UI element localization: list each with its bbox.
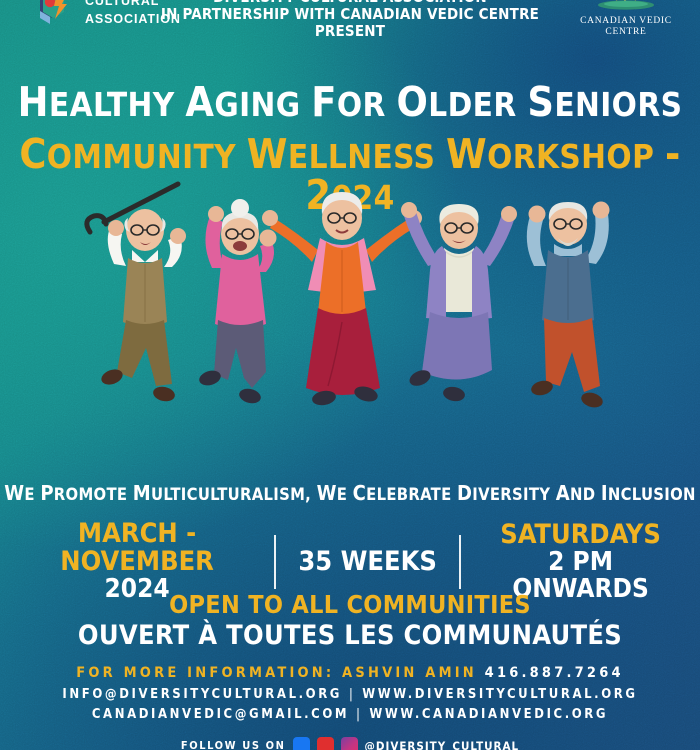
figure-woman-orange bbox=[262, 192, 422, 407]
follow-us-row: FOLLOW US ON @DIVERSITY_CULTURAL bbox=[0, 737, 700, 750]
presenter-block: DIVERSITY CULTURAL ASSOCIATION IN PARTNE… bbox=[140, 0, 560, 39]
contact-separator-2: | bbox=[356, 707, 363, 722]
figure-man-blue bbox=[527, 202, 610, 410]
logo-right-line2: CENTRE bbox=[605, 27, 646, 37]
title-line-1: HEALTHY AGING FOR OLDER SENIORS bbox=[0, 82, 700, 123]
contact-info-label: FOR MORE INFORMATION: ASHVIN AMIN bbox=[76, 665, 477, 681]
facts-divider-2 bbox=[459, 535, 461, 589]
presenter-line-3: PRESENT bbox=[140, 23, 560, 40]
facts-divider-1 bbox=[274, 535, 276, 589]
instagram-icon[interactable] bbox=[341, 737, 358, 750]
youtube-icon[interactable] bbox=[317, 737, 334, 750]
contact-website-1[interactable]: WWW.DIVERSITYCULTURAL.ORG bbox=[362, 687, 637, 702]
logo-right-line1: CANADIAN VEDIC bbox=[580, 16, 672, 26]
poster: CULTURAL ASSOCIATION DIVERSITY CULTURAL … bbox=[0, 0, 700, 750]
contact-email-1[interactable]: INFO@DIVERSITYCULTURAL.ORG bbox=[62, 687, 342, 702]
fact-schedule-top: SATURDAYS bbox=[483, 521, 678, 549]
contact-phone[interactable]: 416.887.7264 bbox=[485, 665, 624, 681]
figure-woman-purple bbox=[401, 202, 517, 403]
contact-line-diversity: INFO@DIVERSITYCULTURAL.ORG | WWW.DIVERSI… bbox=[0, 685, 700, 705]
presenter-line-2: IN PARTNERSHIP WITH CANADIAN VEDIC CENTR… bbox=[140, 6, 560, 23]
figure-woman-pink bbox=[197, 199, 276, 405]
contact-email-2[interactable]: CANADIANVEDIC@GMAIL.COM bbox=[92, 707, 349, 722]
fact-dates-top: MARCH - NOVEMBER bbox=[22, 520, 252, 576]
fact-duration: 35 WEEKS bbox=[276, 548, 459, 576]
contact-separator-1: | bbox=[349, 687, 356, 702]
logo-canadian-vedic-centre: CANADIAN VEDIC CENTRE bbox=[570, 0, 682, 38]
open-to-all-english: OPEN TO ALL COMMUNITIES bbox=[0, 592, 700, 618]
follow-us-label: FOLLOW US ON bbox=[181, 739, 286, 750]
open-to-all-french: OUVERT À TOUTES LES COMMUNAUTÉS bbox=[0, 621, 700, 651]
facebook-icon[interactable] bbox=[293, 737, 310, 750]
figure-man-with-cane bbox=[87, 184, 186, 403]
header: CULTURAL ASSOCIATION DIVERSITY CULTURAL … bbox=[0, 0, 700, 56]
diversity-hexagon-logo-icon bbox=[26, 0, 78, 36]
open-to-all-block: OPEN TO ALL COMMUNITIES OUVERT À TOUTES … bbox=[0, 592, 700, 651]
logo-right-text: CANADIAN VEDIC CENTRE bbox=[570, 16, 682, 38]
contact-block: FOR MORE INFORMATION: ASHVIN AMIN 416.88… bbox=[0, 663, 700, 725]
fact-duration-top: 35 WEEKS bbox=[298, 548, 437, 576]
five-jumping-seniors-illustration bbox=[0, 172, 700, 462]
social-handle[interactable]: @DIVERSITY_CULTURAL bbox=[365, 739, 520, 750]
contact-line-vedic: CANADIANVEDIC@GMAIL.COM | WWW.CANADIANVE… bbox=[0, 705, 700, 725]
contact-info-line: FOR MORE INFORMATION: ASHVIN AMIN 416.88… bbox=[0, 663, 700, 685]
vedic-lotus-emblem-icon bbox=[570, 0, 682, 16]
tagline: WE PROMOTE MULTICULTURALISM, WE CELEBRAT… bbox=[0, 481, 700, 505]
contact-website-2[interactable]: WWW.CANADIANVEDIC.ORG bbox=[369, 707, 608, 722]
